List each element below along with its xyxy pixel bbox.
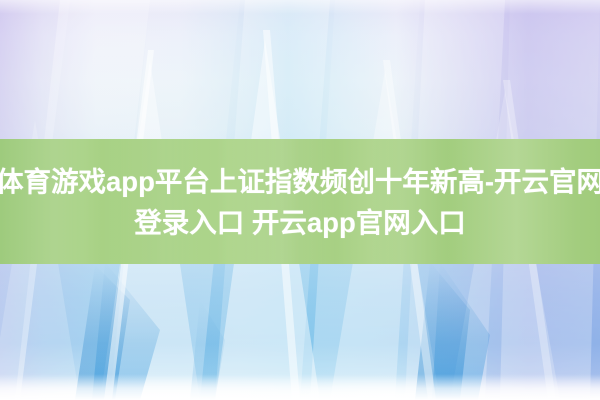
top-white-fade [0,0,600,14]
title-line-1: 体育游戏app平台上证指数频创十年新高-开云官网 [0,161,600,202]
title-line-2: 登录入口 开云app官网入口 [134,202,466,243]
title-band: 体育游戏app平台上证指数频创十年新高-开云官网 登录入口 开云app官网入口 [0,139,600,264]
banner-image: 体育游戏app平台上证指数频创十年新高-开云官网 登录入口 开云app官网入口 [0,0,600,400]
bottom-white-fade [0,374,600,400]
